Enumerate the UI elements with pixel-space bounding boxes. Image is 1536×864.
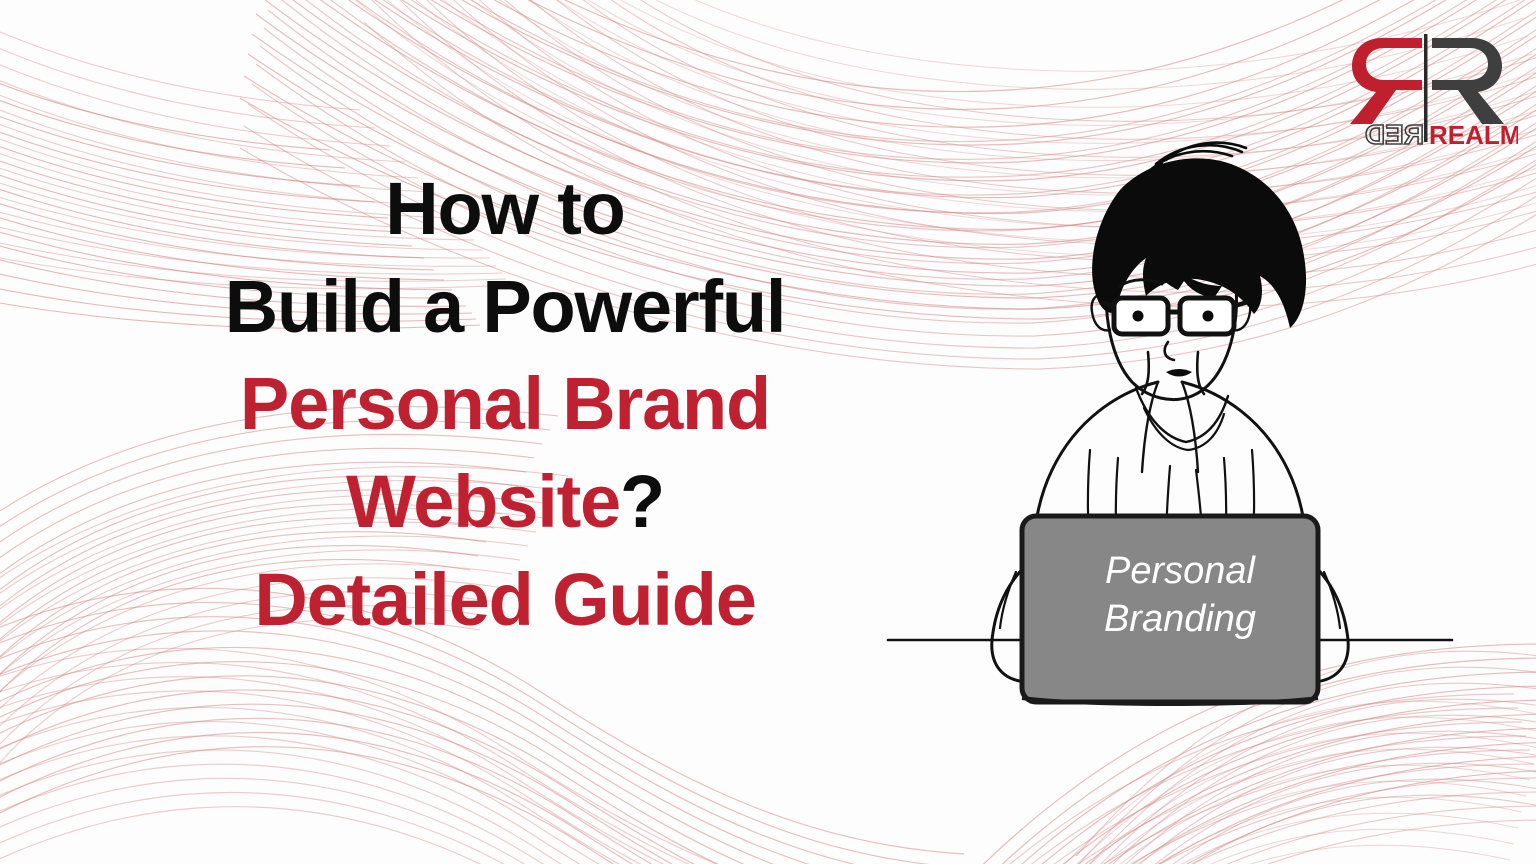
logo-word-realm: REALM — [1429, 120, 1518, 150]
logo-wordmark-red-mirrored: RED — [1365, 119, 1424, 150]
person-with-laptop-illustration — [880, 120, 1460, 740]
nose-and-mouth — [1165, 342, 1174, 360]
headline-line-5: Detailed Guide — [70, 551, 940, 649]
headline-line-1: How to — [70, 160, 940, 258]
red-realm-logo[interactable]: RED REALM — [1336, 24, 1518, 150]
laptop — [1022, 516, 1318, 704]
logo-word-red: RED — [1365, 119, 1424, 150]
mouth — [1166, 369, 1192, 377]
logo-r-icon — [1432, 38, 1504, 124]
headline-line-4-text: Website — [346, 460, 620, 543]
glasses — [1100, 298, 1248, 334]
logo-mirrored-r-icon — [1350, 38, 1422, 124]
headline-line-2: Build a Powerful — [70, 258, 940, 356]
laptop-screen — [1022, 516, 1318, 702]
tshirt-neckline-inner — [1144, 408, 1224, 450]
headline-line-4: Website? — [70, 453, 940, 551]
headline-block: How to Build a Powerful Personal Brand W… — [70, 160, 940, 648]
headline-line-3: Personal Brand — [70, 355, 940, 453]
blog-banner: How to Build a Powerful Personal Brand W… — [0, 0, 1536, 864]
headline-question-mark: ? — [620, 460, 664, 543]
